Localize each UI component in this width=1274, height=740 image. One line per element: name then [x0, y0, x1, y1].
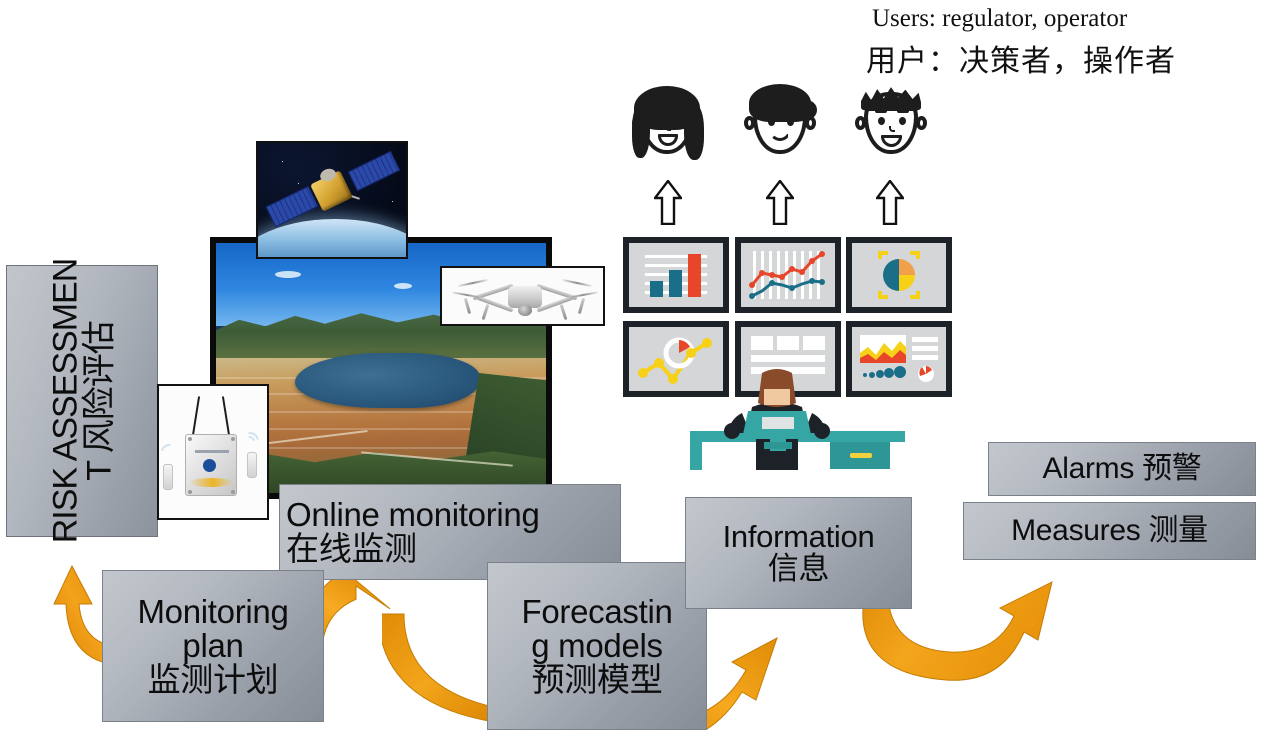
monitoring-plan-label-en2: plan: [182, 627, 243, 664]
page-title-en: Users: regulator, operator: [872, 5, 1127, 33]
arrow-up-to-male-user-2: [876, 180, 904, 225]
screen-bar-chart[interactable]: [623, 237, 729, 313]
user-avatar-female: [624, 78, 710, 164]
wireless-sensor-gateway-photo: [157, 384, 269, 520]
arrow-up-to-female-user: [654, 180, 682, 225]
information-label-zh: 信息: [768, 551, 829, 586]
online-monitoring-label-en: Online monitoring: [286, 496, 540, 533]
monitoring-plan-label-zh: 监测计划: [148, 661, 279, 698]
forecasting-models-label-en2: g models: [531, 627, 663, 664]
drone-photo: [440, 266, 605, 326]
forecasting-models-label-en1: Forecastin: [521, 593, 672, 630]
page-title-zh: 用户：决策者，操作者: [866, 36, 1176, 80]
measures-label: Measures 测量: [1005, 515, 1214, 546]
information-label-en: Information: [723, 519, 875, 554]
measures-box[interactable]: Measures 测量: [963, 502, 1256, 560]
forecasting-models-label-zh: 预测模型: [532, 661, 663, 698]
risk-assessment-label-line2: T 风险评估: [82, 259, 116, 544]
forecasting-models-box[interactable]: Forecastin g models 预测模型: [487, 562, 707, 730]
alarms-box[interactable]: Alarms 预警: [988, 442, 1256, 496]
information-box[interactable]: Information 信息: [685, 497, 912, 609]
arrow-up-to-male-user-1: [766, 180, 794, 225]
diagram-canvas: Users: regulator, operator 用户：决策者，操作者 RI…: [0, 0, 1274, 737]
alarms-label: Alarms 预警: [1037, 453, 1208, 484]
risk-assessment-label-line1: RISK ASSESSMEN: [46, 259, 84, 544]
user-avatar-male-2: [848, 78, 934, 164]
screen-line-chart[interactable]: [735, 237, 841, 313]
user-avatar-male-1: [737, 78, 823, 164]
monitoring-plan-label-en1: Monitoring: [137, 593, 288, 630]
risk-assessment-box[interactable]: RISK ASSESSMEN T 风险评估: [6, 265, 158, 537]
online-monitoring-label-zh: 在线监测: [286, 530, 417, 567]
monitoring-plan-box[interactable]: Monitoring plan 监测计划: [102, 570, 324, 722]
operator-at-desk: [690, 367, 905, 472]
satellite-photo: [256, 141, 408, 259]
screen-pie-chart[interactable]: [846, 237, 952, 313]
